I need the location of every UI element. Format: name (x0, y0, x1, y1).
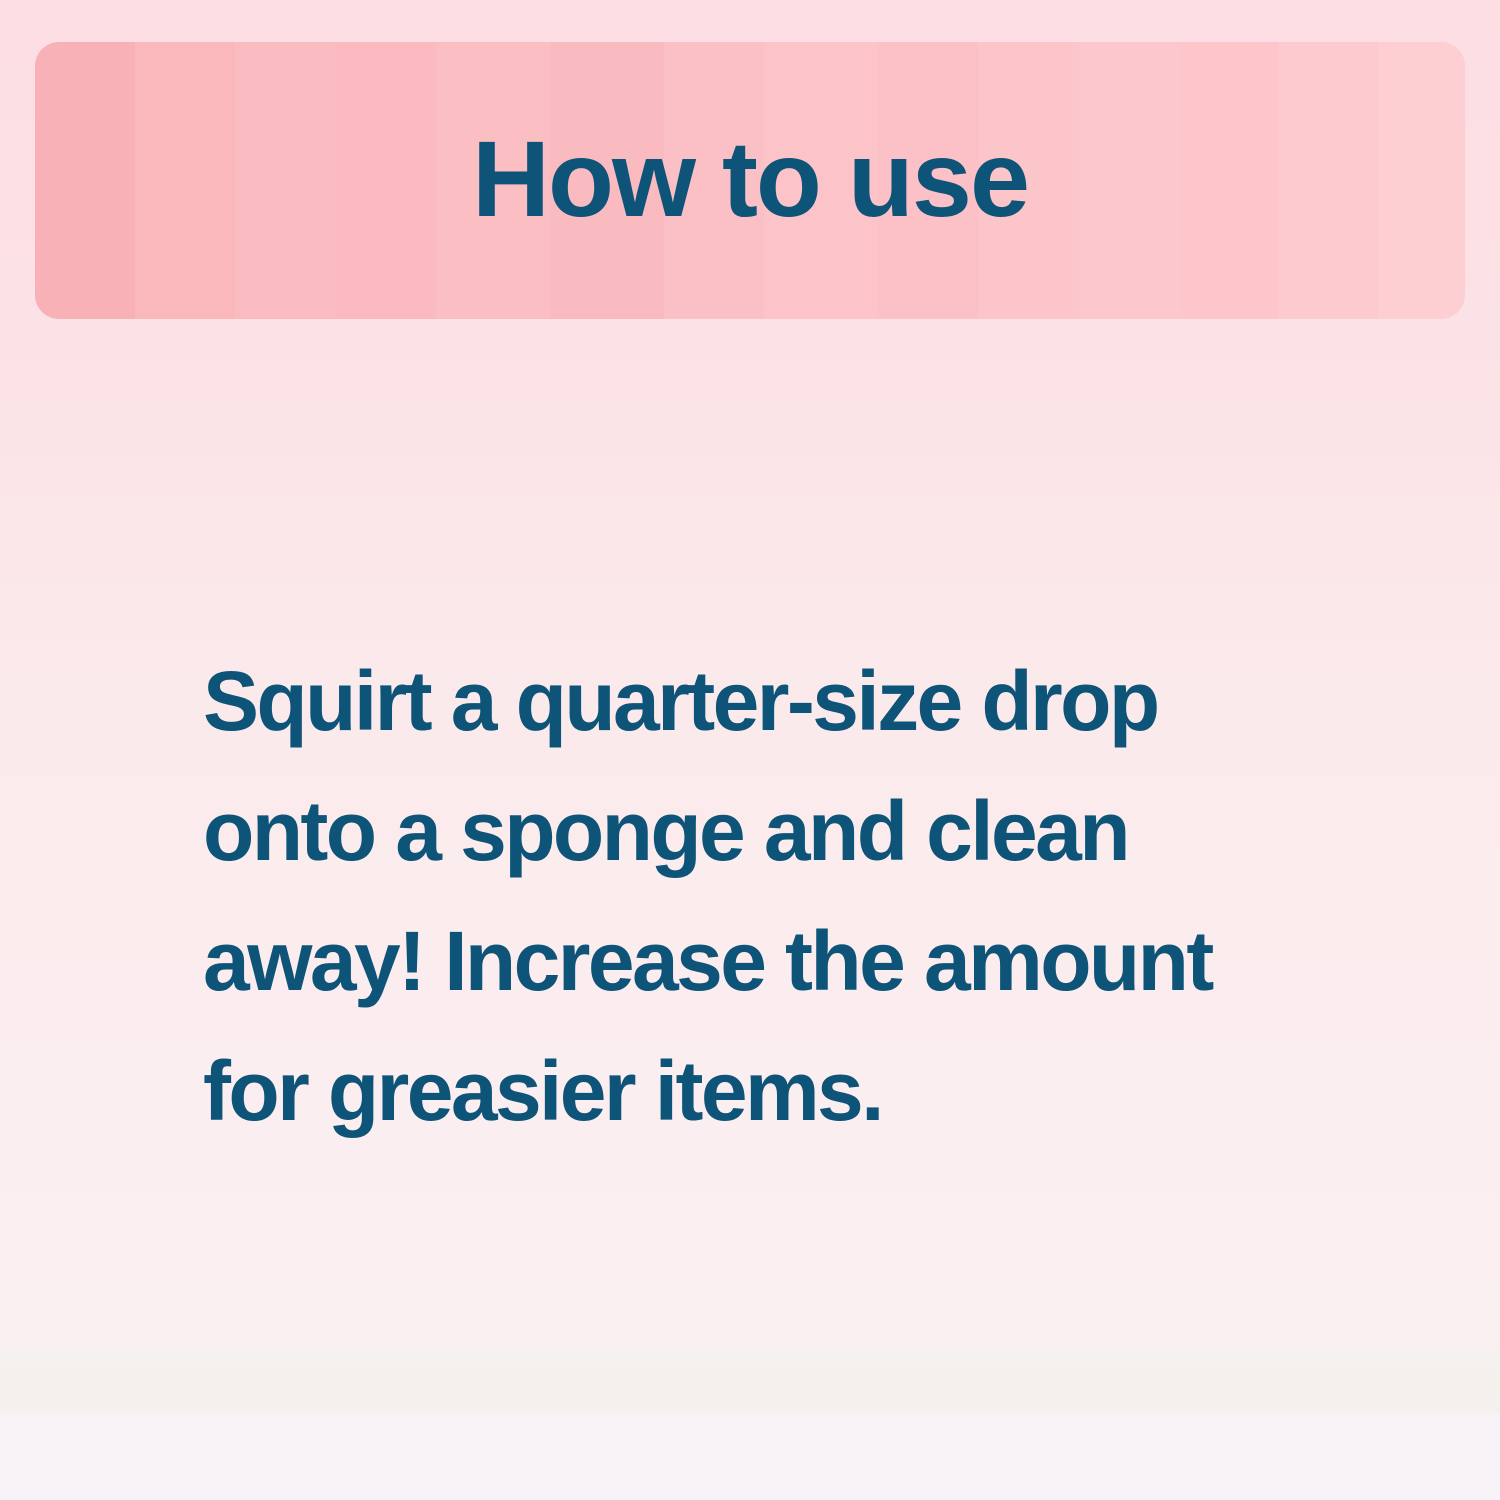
page-title: How to use (472, 125, 1028, 233)
instruction-line: for greasier items. (203, 1026, 1413, 1156)
how-to-use-banner: How to use (35, 42, 1465, 319)
instructions-block: Squirt a quarter-size drop onto a sponge… (203, 636, 1413, 1156)
instruction-line: away! Increase the amount (203, 896, 1413, 1026)
instruction-line: onto a sponge and clean (203, 766, 1413, 896)
instruction-line: Squirt a quarter-size drop (203, 636, 1413, 766)
